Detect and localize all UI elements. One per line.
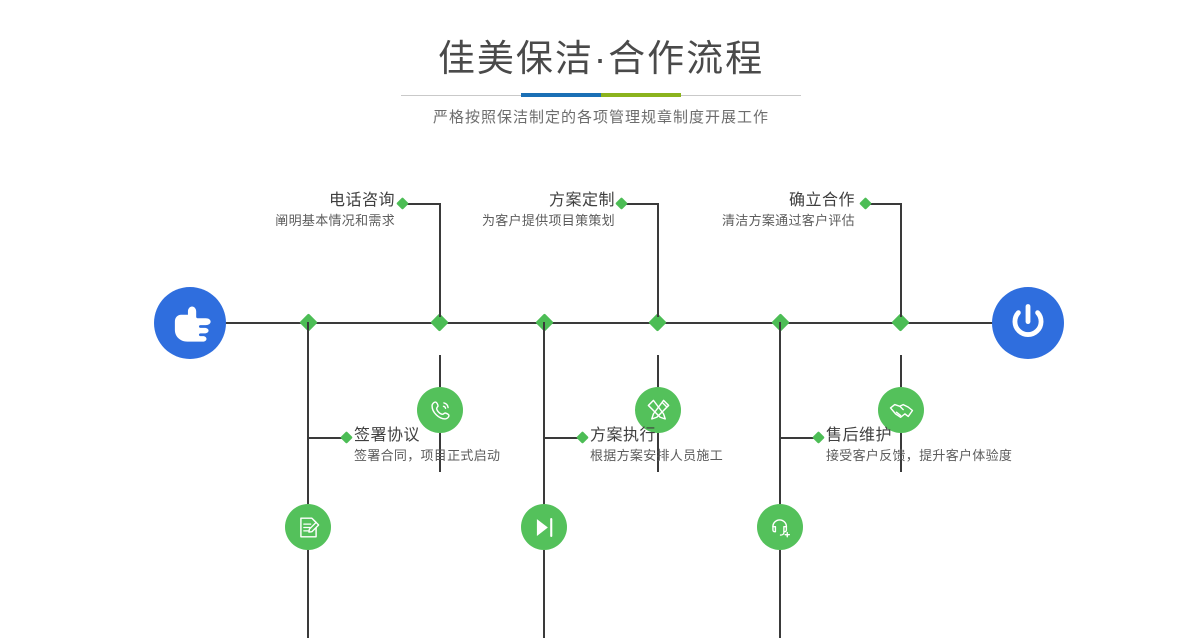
step-stem-6 — [779, 322, 781, 504]
handshake-icon — [888, 397, 915, 424]
step-stem-2b — [307, 550, 309, 638]
pencil-ruler-icon — [645, 397, 672, 424]
step-stem-1 — [439, 355, 441, 387]
pointing-hand-icon — [168, 301, 212, 345]
step-label-5: 确立合作 清洁方案通过客户评估 — [620, 191, 855, 231]
divider-segment-blue — [521, 93, 601, 97]
step-desc-5: 清洁方案通过客户评估 — [620, 211, 855, 231]
step-title-3: 方案定制 — [380, 191, 615, 211]
timeline-start-node[interactable] — [154, 287, 226, 359]
step-riser-5 — [900, 203, 902, 317]
step-node-2[interactable] — [285, 504, 331, 550]
step-title-1: 电话咨询 — [155, 191, 395, 211]
contract-sign-icon — [295, 514, 322, 541]
step-label-3: 方案定制 为客户提供项目策策划 — [380, 191, 615, 231]
play-execute-icon — [531, 514, 558, 541]
step-desc-3: 为客户提供项目策策划 — [380, 211, 615, 231]
customer-service-icon — [767, 514, 794, 541]
step-label-marker-5 — [859, 197, 872, 210]
power-button-icon — [1006, 301, 1050, 345]
step-stem-6b — [779, 550, 781, 638]
page-title: 佳美保洁·合作流程 — [0, 36, 1202, 82]
step-stem-2 — [307, 322, 309, 504]
step-title-6: 售后维护 — [826, 426, 1156, 446]
step-desc-6: 接受客户反馈，提升客户体验度 — [826, 446, 1156, 466]
step-label-6: 售后维护 接受客户反馈，提升客户体验度 — [826, 426, 1156, 466]
step-title-5: 确立合作 — [620, 191, 855, 211]
step-label-marker-2 — [340, 431, 353, 444]
step-stem-3 — [657, 355, 659, 387]
phone-call-icon — [427, 397, 454, 424]
page-subtitle: 严格按照保洁制定的各项管理规章制度开展工作 — [0, 106, 1202, 127]
divider-segment-green — [601, 93, 681, 97]
step-label-1: 电话咨询 阐明基本情况和需求 — [155, 191, 395, 231]
step-stem-4b — [543, 550, 545, 638]
title-divider — [401, 93, 801, 97]
step-node-4[interactable] — [521, 504, 567, 550]
step-desc-1: 阐明基本情况和需求 — [155, 211, 395, 231]
step-stem-4 — [543, 322, 545, 504]
step-node-6[interactable] — [757, 504, 803, 550]
step-stem-5 — [900, 355, 902, 387]
process-timeline: 电话咨询 阐明基本情况和需求 签署协议 签署合同，项目正式启动 — [0, 150, 1202, 502]
timeline-end-node[interactable] — [992, 287, 1064, 359]
